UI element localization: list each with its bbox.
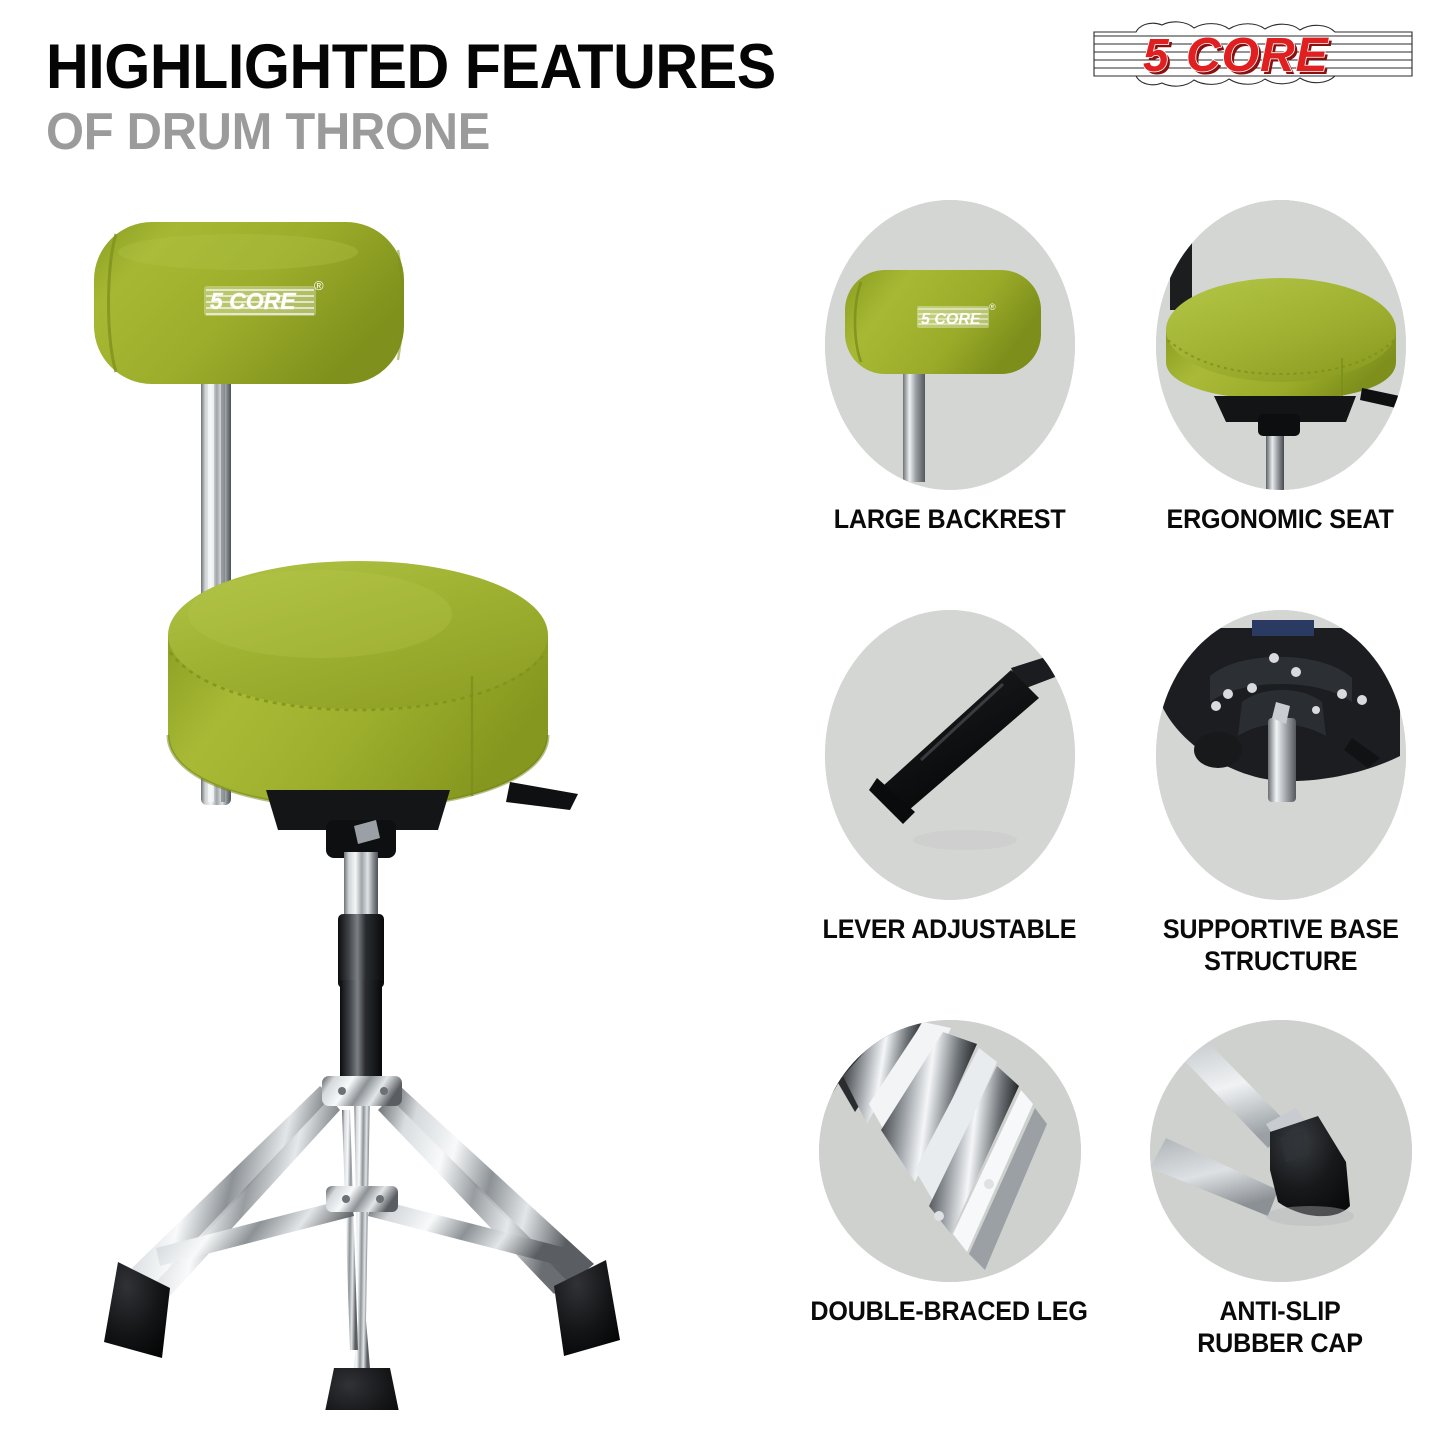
feature-grid: 5 CORE ® LARGE BACKREST [790,200,1440,1430]
feature-ergonomic-seat: ERGONOMIC SEAT [1121,200,1440,610]
feature-supportive-base-structure: SUPPORTIVE BASE STRUCTURE [1121,610,1440,1020]
svg-text:5 CORE: 5 CORE [921,311,982,328]
product-hero-image: 5 CORE ® [58,190,758,1410]
page-title: HIGHLIGHTED FEATURES OF DRUM THRONE [46,38,822,160]
feature-lever-adjustable: LEVER ADJUSTABLE [790,610,1109,1020]
rubber-foot-center [320,1368,404,1410]
tripod-center-leg [320,1090,404,1410]
feature-label-supportive-base-structure: SUPPORTIVE BASE STRUCTURE [1163,914,1399,978]
svg-text:5 CORE: 5 CORE [210,288,296,314]
height-adjust-tubes [338,852,384,1090]
feature-image-backrest: 5 CORE ® [825,200,1075,490]
svg-text:5: 5 [1143,29,1170,81]
infographic-page: HIGHLIGHTED FEATURES OF DRUM THRONE [0,0,1440,1440]
feature-label-large-backrest: LARGE BACKREST [834,504,1066,536]
svg-text:®: ® [314,278,324,293]
title-main: HIGHLIGHTED FEATURES [46,38,776,98]
feature-image-lever [825,610,1075,900]
tripod-left-leg [104,1086,354,1358]
seat-mount-and-lever [266,782,578,858]
feature-image-rubber-cap [1150,1020,1412,1282]
feature-label-anti-slip-rubber-cap: ANTI-SLIP RUBBER CAP [1198,1296,1364,1360]
feature-large-backrest: 5 CORE ® LARGE BACKREST [790,200,1109,610]
svg-text:®: ® [989,302,996,312]
backrest-cushion: 5 CORE ® [94,222,404,384]
feature-label-lever-adjustable: LEVER ADJUSTABLE [823,914,1077,946]
adjust-lever [506,782,578,810]
svg-text:CORE: CORE [1186,29,1330,82]
tripod-right-leg [368,1086,620,1356]
feature-label-ergonomic-seat: ERGONOMIC SEAT [1167,504,1394,536]
brand-logo-5core: 5 CORE 5 CORE [1088,18,1418,94]
feature-image-seat [1156,200,1406,490]
feature-label-double-braced-leg: DOUBLE-BRACED LEG [811,1296,1088,1328]
feature-double-braced-leg: DOUBLE-BRACED LEG [790,1020,1109,1430]
feature-image-double-braced-leg [819,1020,1081,1282]
seat-cushion [168,561,548,808]
header: HIGHLIGHTED FEATURES OF DRUM THRONE [0,0,1440,190]
feature-image-base-structure [1156,610,1406,900]
feature-anti-slip-rubber-cap: ANTI-SLIP RUBBER CAP [1121,1020,1440,1430]
title-subtitle: OF DRUM THRONE [46,104,776,160]
